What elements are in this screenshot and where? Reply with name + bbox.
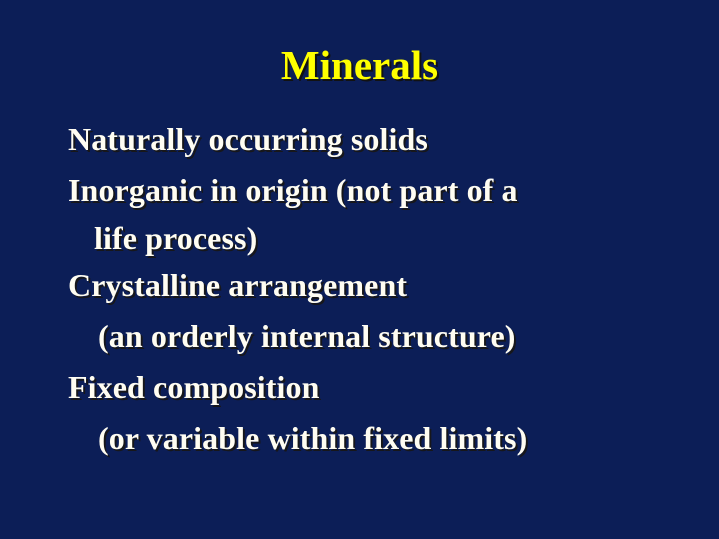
bullet-line-4-detail: (or variable within fixed limits) <box>98 413 708 464</box>
bullet-line-3-detail: (an orderly internal structure) <box>98 311 708 362</box>
bullet-line-2-continued: life process) <box>94 216 708 260</box>
bullet-line-1: Naturally occurring solids <box>68 114 708 165</box>
bullet-line-3: Crystalline arrangement <box>68 260 708 311</box>
bullet-line-4: Fixed composition <box>68 362 708 413</box>
presentation-slide: Minerals Naturally occurring solids Inor… <box>0 0 719 539</box>
slide-title: Minerals <box>0 42 719 88</box>
bullet-line-2: Inorganic in origin (not part of a <box>68 165 708 216</box>
slide-body: Naturally occurring solids Inorganic in … <box>68 114 708 464</box>
